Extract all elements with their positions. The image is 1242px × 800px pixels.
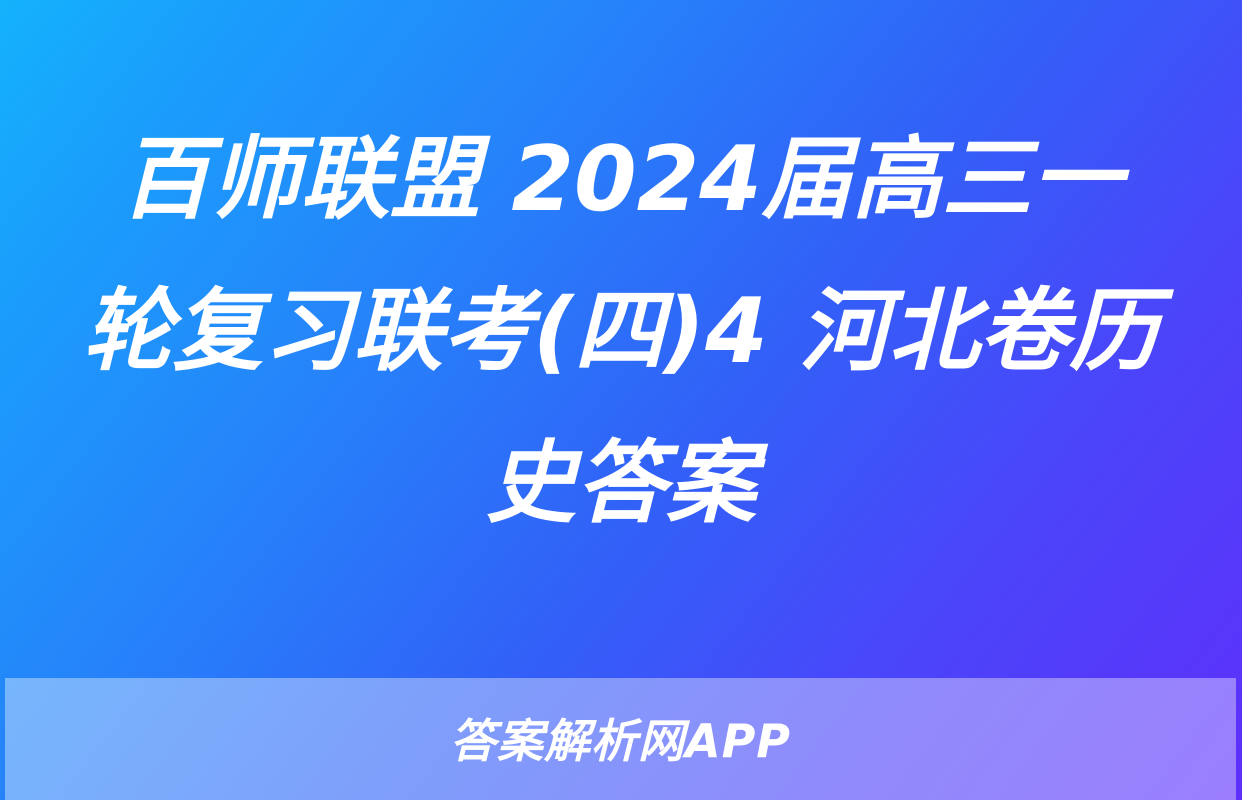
watermark-label: 答案解析网APP	[450, 718, 791, 764]
watermark-band: 答案解析网APP	[5, 678, 1236, 800]
answer-cover-card: 百师联盟 2024届高三一轮复习联考(四)4 河北卷历史答案 答案解析网APP	[0, 0, 1242, 800]
title-block: 百师联盟 2024届高三一轮复习联考(四)4 河北卷历史答案	[0, 0, 1242, 678]
page-title: 百师联盟 2024届高三一轮复习联考(四)4 河北卷历史答案	[81, 104, 1161, 560]
